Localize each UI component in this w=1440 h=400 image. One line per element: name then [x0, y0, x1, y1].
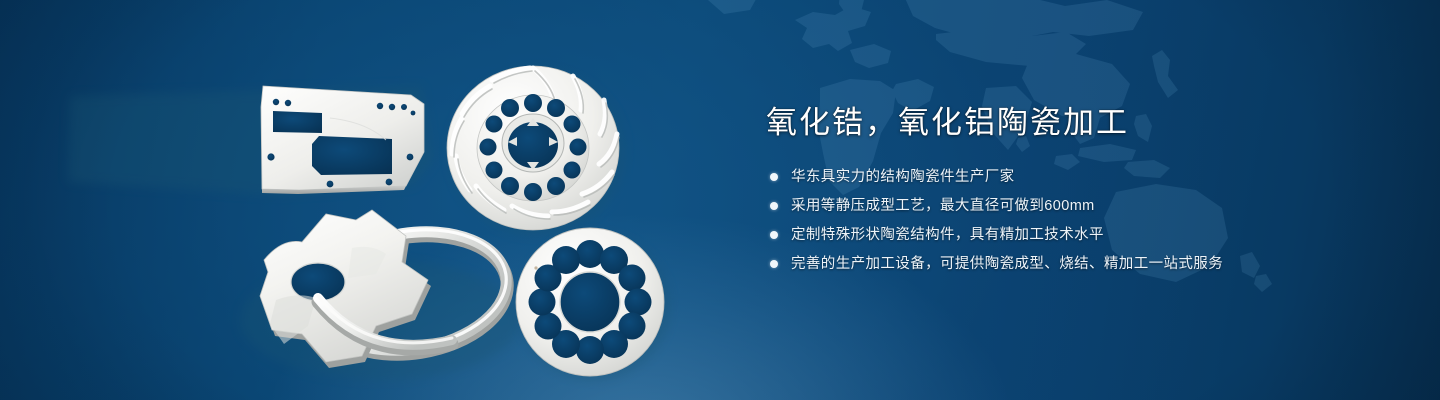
bullet-text-4: 完善的生产加工设备，可提供陶瓷成型、烧结、精加工一站式服务 [791, 256, 1223, 272]
bullet-dot-icon [770, 231, 778, 239]
banner-text-block: 氧化锆，氧化铝陶瓷加工 华东具实力的结构陶瓷件生产厂家 采用等静压成型工艺，最大… [766, 104, 1406, 275]
bullet-item-4: 完善的生产加工设备，可提供陶瓷成型、烧结、精加工一站式服务 [766, 253, 1406, 275]
banner-bullet-list: 华东具实力的结构陶瓷件生产厂家 采用等静压成型工艺，最大直径可做到600mm 定… [766, 166, 1406, 275]
bullet-dot-icon [770, 202, 778, 210]
bullet-item-1: 华东具实力的结构陶瓷件生产厂家 [766, 166, 1406, 188]
ceramic-machined-plate [68, 86, 434, 195]
bullet-dot-icon [770, 260, 778, 268]
ceramic-vane-impeller [447, 66, 625, 236]
bullet-text-3: 定制特殊形状陶瓷结构件，具有精加工技术水平 [791, 227, 1104, 243]
bullet-dot-icon [770, 173, 778, 181]
bullet-text-2: 采用等静压成型工艺，最大直径可做到600mm [791, 198, 1095, 214]
bullet-item-3: 定制特殊形状陶瓷结构件，具有精加工技术水平 [766, 224, 1406, 246]
promo-banner: 氧化锆，氧化铝陶瓷加工 华东具实力的结构陶瓷件生产厂家 采用等静压成型工艺，最大… [0, 0, 1440, 400]
bullet-text-1: 华东具实力的结构陶瓷件生产厂家 [791, 169, 1015, 185]
bullet-item-2: 采用等静压成型工艺，最大直径可做到600mm [766, 195, 1406, 217]
product-photo-group [0, 0, 720, 400]
ceramic-cross-plate-and-ring [240, 210, 520, 380]
ceramic-perforated-disc [516, 228, 670, 380]
banner-headline: 氧化锆，氧化铝陶瓷加工 [766, 104, 1406, 143]
